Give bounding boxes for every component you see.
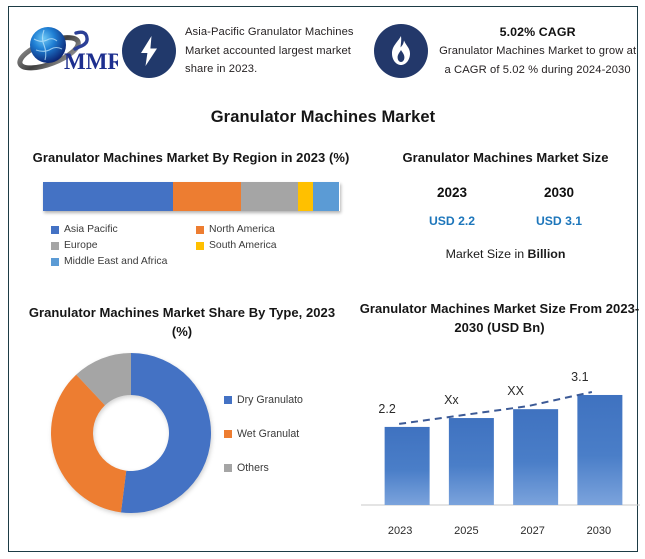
legend-label: Europe bbox=[64, 239, 98, 253]
market-size-from: 2023 USD 2.2 bbox=[399, 185, 506, 228]
x-axis-tick-label: 2027 bbox=[500, 525, 566, 537]
cagr-headline: 5.02% CAGR bbox=[438, 23, 637, 42]
legend-item: Dry Granulato bbox=[224, 393, 347, 407]
donut-slice-0 bbox=[121, 353, 211, 513]
legend-item: Middle East and Africa bbox=[51, 255, 196, 269]
legend-swatch-icon bbox=[51, 226, 59, 234]
legend-item: South America bbox=[196, 239, 341, 253]
footnote-prefix: Market Size in bbox=[446, 247, 528, 261]
legend-item: Europe bbox=[51, 239, 196, 253]
lightning-bolt-icon bbox=[122, 24, 176, 78]
type-chart-title: Granulator Machines Market Share By Type… bbox=[17, 303, 347, 341]
growth-trendline bbox=[399, 392, 592, 424]
x-axis-tick-label: 2025 bbox=[433, 525, 499, 537]
legend-label: Asia Pacific bbox=[64, 223, 118, 237]
growth-bar-2027 bbox=[513, 409, 558, 505]
growth-bar-2023 bbox=[385, 427, 430, 505]
value-from-label: USD 2.2 bbox=[399, 214, 506, 228]
footnote-unit: Billion bbox=[528, 247, 566, 261]
legend-label: South America bbox=[209, 239, 277, 253]
region-segment-south-america bbox=[298, 182, 313, 211]
region-chart-title: Granulator Machines Market By Region in … bbox=[17, 148, 365, 167]
x-axis-tick-label: 2030 bbox=[566, 525, 632, 537]
legend-swatch-icon bbox=[51, 258, 59, 266]
legend-label: Middle East and Africa bbox=[64, 255, 167, 269]
mmr-globe-logo: MMR bbox=[9, 7, 122, 95]
donut-graphic bbox=[47, 349, 215, 517]
legend-swatch-icon bbox=[224, 464, 232, 472]
header-left-text: Asia-Pacific Granulator Machines Market … bbox=[185, 23, 366, 79]
growth-bar-2025 bbox=[449, 418, 494, 505]
market-size-to: 2030 USD 3.1 bbox=[506, 185, 613, 228]
region-share-chart: Granulator Machines Market By Region in … bbox=[17, 148, 365, 293]
legend-label: Wet Granulat bbox=[237, 427, 299, 441]
market-size-years: 2023 USD 2.2 2030 USD 3.1 bbox=[365, 185, 645, 228]
bar-value-label: XX bbox=[507, 384, 524, 398]
market-size-title: Granulator Machines Market Size bbox=[365, 148, 645, 167]
type-legend: Dry GranulatoWet GranulatOthers bbox=[224, 393, 347, 495]
x-axis-tick-label: 2023 bbox=[367, 525, 433, 537]
region-segment-asia-pacific bbox=[43, 182, 174, 211]
type-share-chart: Granulator Machines Market Share By Type… bbox=[17, 303, 347, 548]
infographic-page: MMR Asia-Pacific Granulator Machines Mar… bbox=[0, 0, 645, 559]
header-bar: MMR Asia-Pacific Granulator Machines Mar… bbox=[9, 7, 637, 95]
region-bar-wrapper bbox=[43, 182, 340, 211]
legend-item: Wet Granulat bbox=[224, 427, 347, 441]
region-segment-north-america bbox=[173, 182, 241, 211]
growth-bars-area: 2.2XxXX3.1 bbox=[353, 343, 645, 523]
growth-x-axis: 2023202520272030 bbox=[353, 525, 645, 537]
donut-area: Dry GranulatoWet GranulatOthers bbox=[17, 349, 347, 548]
growth-bar-2030 bbox=[577, 395, 622, 505]
growth-bar-chart: Granulator Machines Market Size From 202… bbox=[353, 299, 645, 548]
legend-swatch-icon bbox=[224, 430, 232, 438]
legend-label: Dry Granulato bbox=[237, 393, 303, 407]
header-right-text: Granulator Machines Market to grow at a … bbox=[438, 42, 637, 79]
market-size-panel: Granulator Machines Market Size 2023 USD… bbox=[365, 148, 645, 293]
bar-value-label: 3.1 bbox=[571, 370, 588, 384]
legend-item: Asia Pacific bbox=[51, 223, 196, 237]
legend-swatch-icon bbox=[224, 396, 232, 404]
region-stacked-bar bbox=[43, 182, 340, 211]
logo-text: MMR bbox=[64, 49, 118, 74]
value-to-label: USD 3.1 bbox=[506, 214, 613, 228]
page-frame: MMR Asia-Pacific Granulator Machines Mar… bbox=[8, 6, 638, 552]
region-segment-middle-east-and-africa bbox=[313, 182, 340, 211]
legend-swatch-icon bbox=[196, 242, 204, 250]
legend-item: Others bbox=[224, 461, 347, 475]
year-to-label: 2030 bbox=[506, 185, 613, 200]
market-size-footnote: Market Size in Billion bbox=[365, 247, 645, 261]
page-title: Granulator Machines Market bbox=[9, 108, 637, 127]
flame-icon bbox=[374, 24, 428, 78]
region-segment-europe bbox=[241, 182, 297, 211]
region-legend: Asia PacificNorth AmericaEuropeSouth Ame… bbox=[51, 223, 341, 271]
legend-label: North America bbox=[209, 223, 275, 237]
legend-swatch-icon bbox=[196, 226, 204, 234]
bar-value-label: Xx bbox=[444, 393, 459, 407]
legend-item: North America bbox=[196, 223, 341, 237]
growth-chart-title: Granulator Machines Market Size From 202… bbox=[353, 299, 645, 337]
legend-swatch-icon bbox=[51, 242, 59, 250]
header-right-block: 5.02% CAGR Granulator Machines Market to… bbox=[438, 23, 637, 79]
legend-label: Others bbox=[237, 461, 269, 475]
bar-value-label: 2.2 bbox=[378, 402, 395, 416]
year-from-label: 2023 bbox=[399, 185, 506, 200]
